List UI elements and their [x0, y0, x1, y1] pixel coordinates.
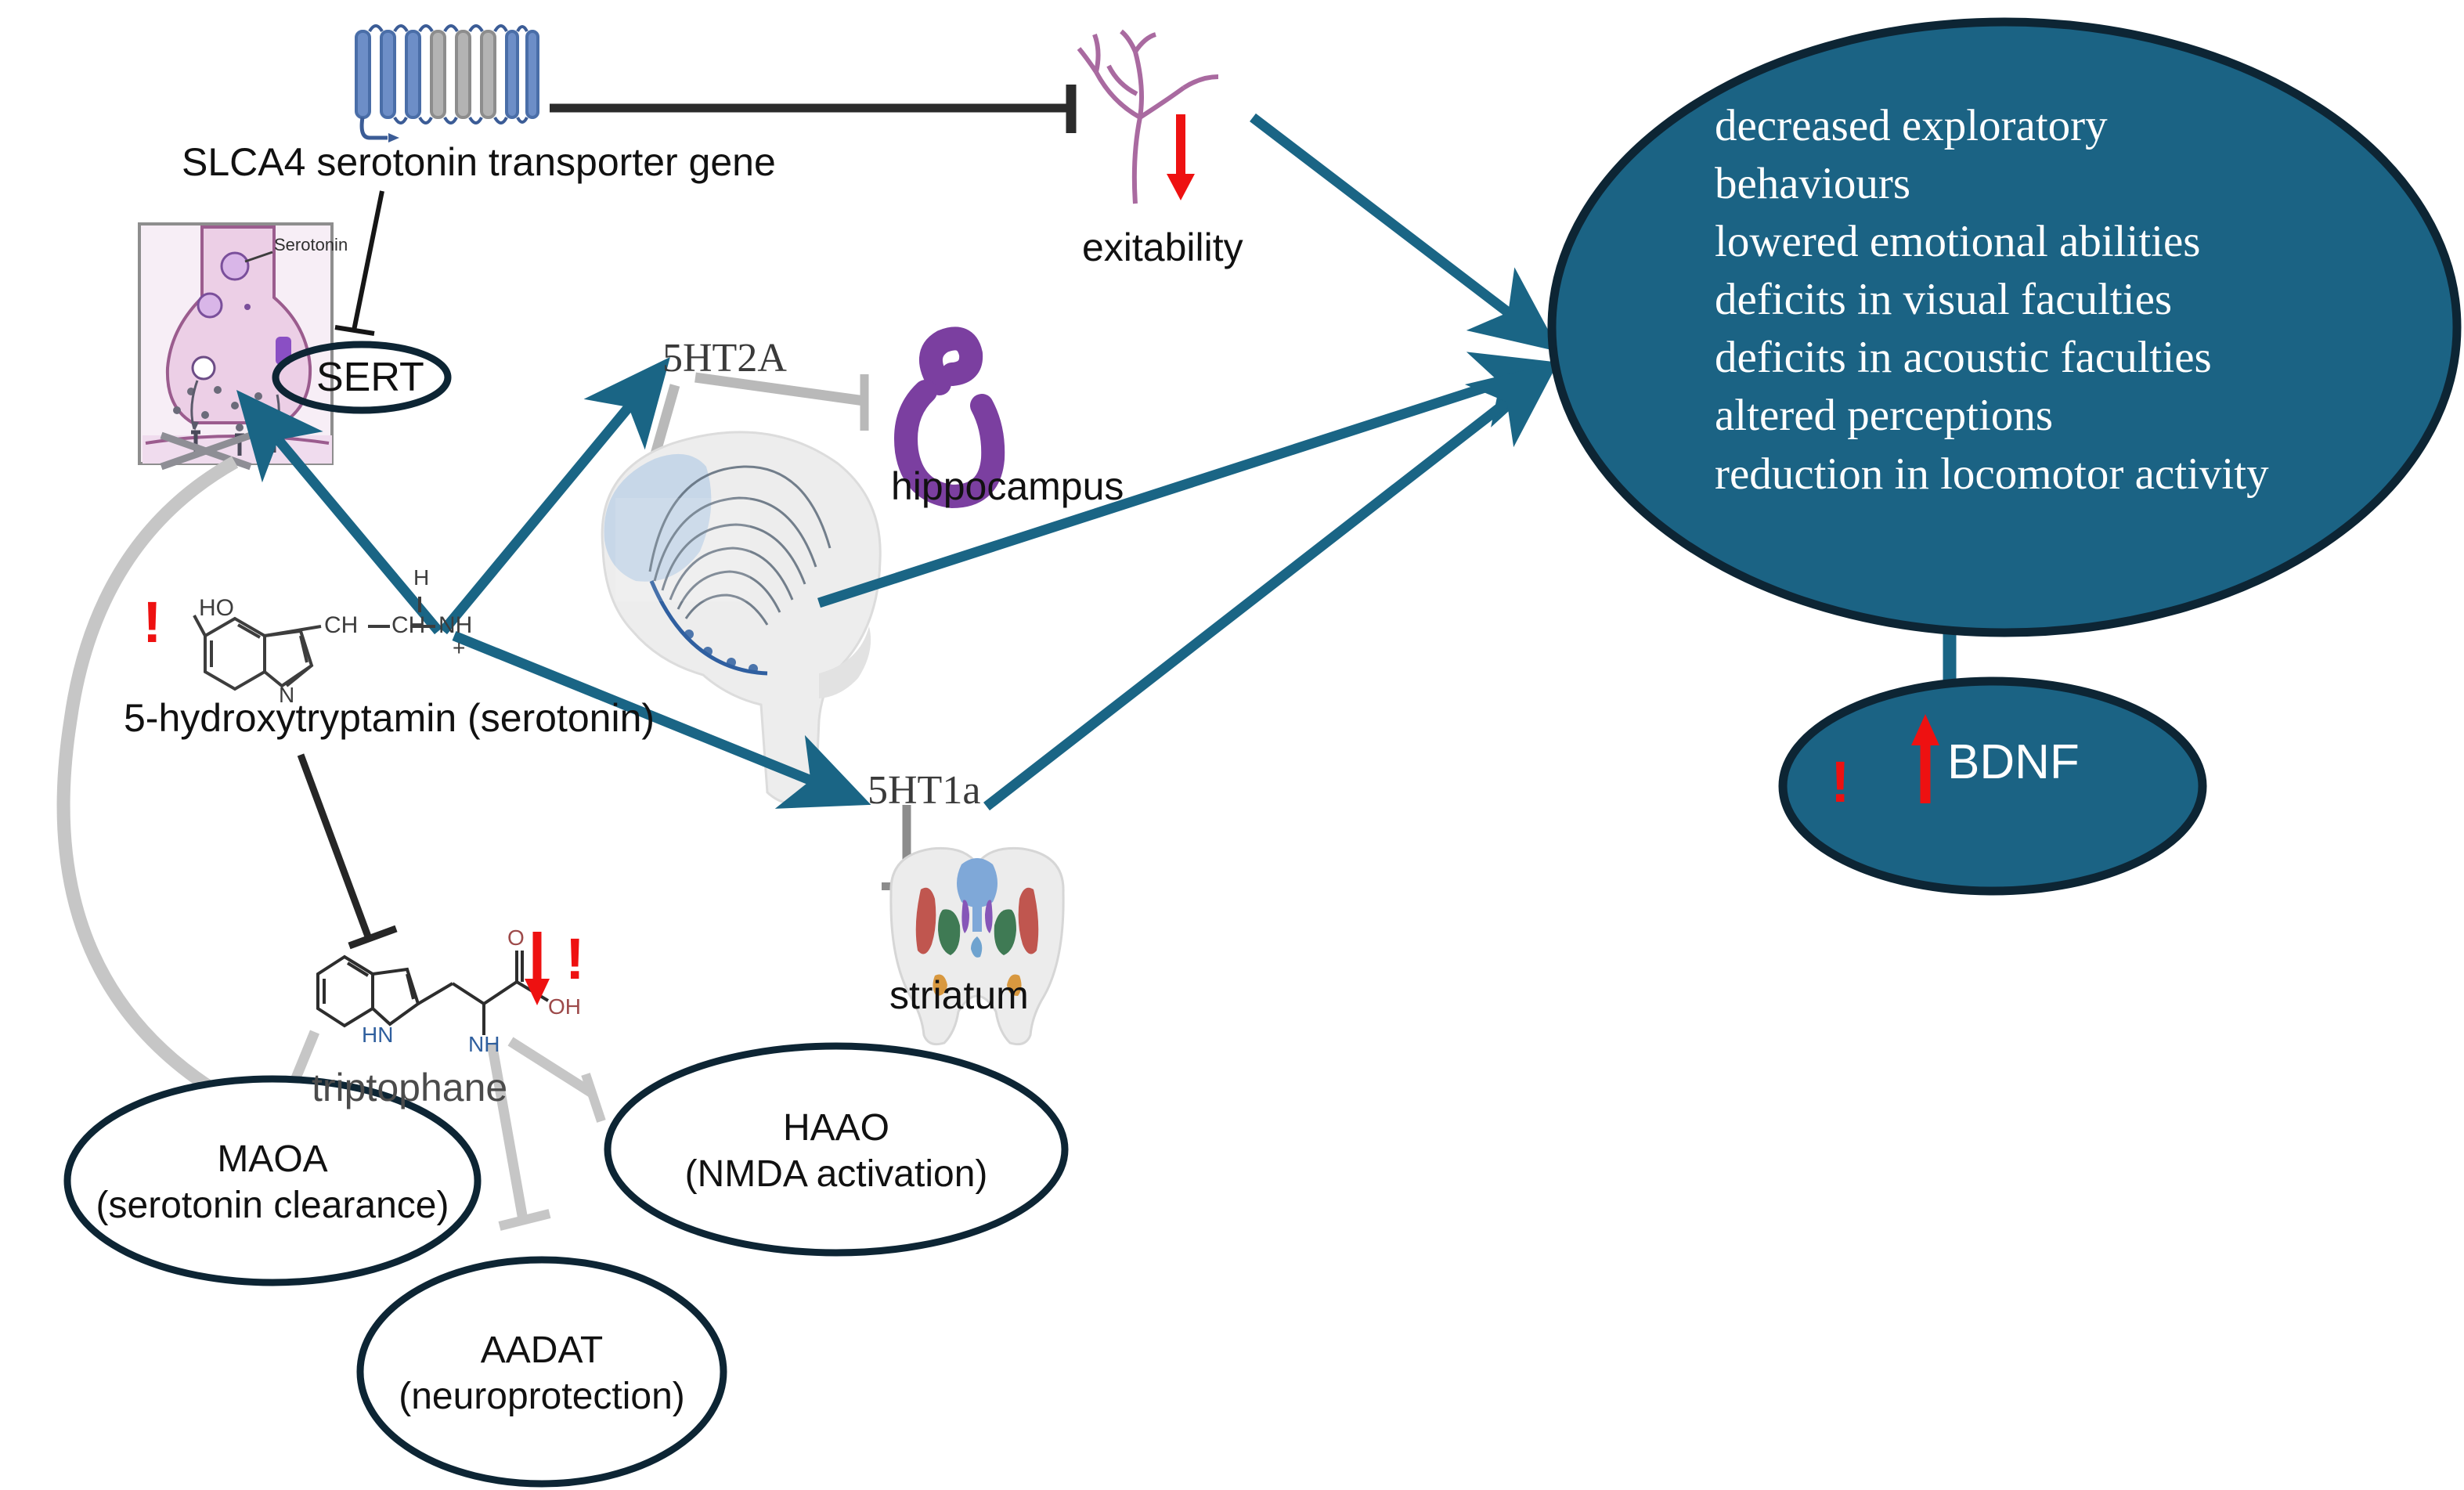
- molecule-atom-ch2: CH: [324, 612, 358, 639]
- outcome-item: deficits in visual faculties: [1715, 271, 2419, 329]
- molecule-atom-nh3: NH: [438, 612, 472, 639]
- molecule-atom-plus: +: [453, 636, 465, 661]
- molecule-atom-n: N: [279, 683, 294, 708]
- synapse-image: [139, 224, 332, 467]
- exclamation-marker-serotonin: !: [143, 593, 162, 651]
- diagram-canvas: SLCA4 serotonin transporter gene Seroton…: [0, 0, 2464, 1490]
- exclamation-marker-tryptophane: !: [565, 930, 585, 988]
- molecule-atom-ch: CH: [391, 612, 425, 639]
- outcome-item: reduction in locomotor activity: [1715, 446, 2419, 503]
- serotonin-callout-label: Serotonin: [274, 235, 348, 255]
- inhibition-tryptophane-haao: [510, 1041, 601, 1121]
- transporter-protein-icon: [356, 26, 538, 143]
- maoa-subtitle: (serotonin clearance): [96, 1183, 449, 1229]
- molecule-atom-h: H: [413, 565, 429, 590]
- hippocampus-label: hippocampus: [891, 464, 1124, 509]
- inhibition-serotonin-tryptophane: [301, 755, 396, 946]
- tryptophane-atom-o: O: [507, 925, 525, 951]
- haao-subtitle: (NMDA activation): [685, 1152, 988, 1198]
- tryptophane-atom-hn: HN: [362, 1023, 393, 1048]
- maoa-to-synapse-curve: [63, 462, 235, 1088]
- maoa-name: MAOA: [217, 1137, 327, 1183]
- inhibition-5ht2a-hippocampus: [695, 374, 864, 431]
- bdnf-label: BDNF: [1947, 734, 2080, 790]
- inhibition-slca4-exitability: [550, 85, 1071, 133]
- tryptophane-label: triptophane: [312, 1065, 507, 1110]
- arrow-striatum-to-outcome: [987, 370, 1549, 806]
- outcome-item: decreased exploratory: [1715, 97, 2419, 155]
- tryptophane-molecule-icon: [318, 951, 548, 1035]
- slca4-label: SLCA4 serotonin transporter gene: [182, 139, 776, 185]
- haao-name: HAAO: [783, 1106, 889, 1152]
- decrease-arrow-exitability: [1167, 114, 1195, 200]
- molecule-atom-ho: HO: [199, 595, 234, 622]
- exclamation-marker-bdnf: !: [1831, 753, 1850, 811]
- sert-label: SERT: [316, 354, 424, 401]
- striatum-label: striatum: [889, 972, 1029, 1018]
- outcome-list: decreased exploratory behaviours lowered…: [1715, 97, 2419, 503]
- outcome-item: behaviours: [1715, 155, 2419, 213]
- dendrite-icon: [1079, 31, 1218, 204]
- tryptophane-atom-oh: OH: [548, 994, 581, 1019]
- aadat-name: AADAT: [481, 1328, 603, 1374]
- tryptophane-atom-nh2: NH: [468, 1032, 500, 1057]
- exitability-label: exitability: [1082, 225, 1243, 270]
- outcome-item: altered perceptions: [1715, 387, 2419, 445]
- maoa-ellipse-text: MAOA (serotonin clearance): [75, 1137, 470, 1228]
- aadat-ellipse-text: AADAT (neuroprotection): [354, 1328, 730, 1420]
- inhibition-gene-sert: [335, 191, 382, 334]
- serotonin-label: 5-hydroxytryptamin (serotonin): [124, 695, 655, 741]
- outcome-item: lowered emotional abilities: [1715, 213, 2419, 271]
- arrow-serotonin-to-sert: [244, 399, 438, 631]
- haao-ellipse-text: HAAO (NMDA activation): [633, 1106, 1040, 1197]
- outcome-item: deficits in acoustic faculties: [1715, 329, 2419, 387]
- receptor-5ht1a-label: 5HT1a: [868, 767, 980, 814]
- receptor-5ht2a-label: 5HT2A: [662, 335, 787, 381]
- arrow-exitability-to-outcome: [1253, 117, 1550, 345]
- decrease-arrow-tryptophane: [525, 932, 550, 1005]
- aadat-subtitle: (neuroprotection): [399, 1374, 685, 1420]
